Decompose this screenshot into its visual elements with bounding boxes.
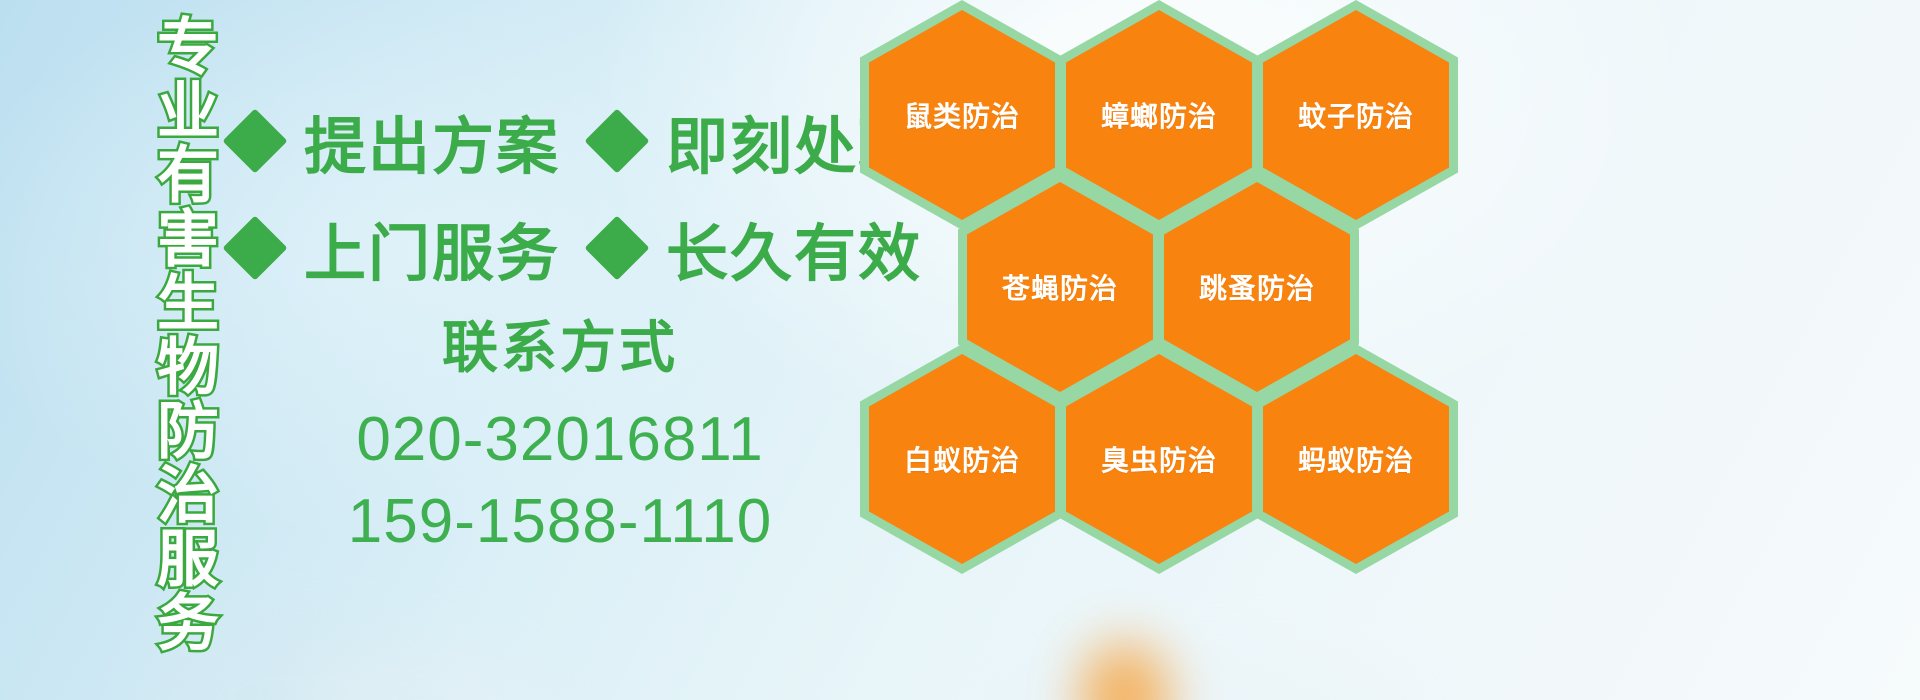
diamond-icon [584, 215, 649, 280]
service-label: 蚂蚁防治 [1298, 439, 1414, 479]
service-label: 臭虫防治 [1101, 439, 1217, 479]
decorative-blob [1080, 642, 1170, 700]
mobile-number[interactable]: 159-1588-1110 [300, 481, 820, 563]
contact-title: 联系方式 [300, 318, 820, 381]
service-label: 跳蚤防治 [1199, 267, 1315, 307]
service-label: 苍蝇防治 [1002, 267, 1118, 307]
slogan-row-2: 上门服务 长久有效 [232, 203, 922, 293]
vertical-headline: 专业有害生物防治服务 [110, 14, 214, 654]
contact-block: 联系方式 020-32016811 159-1588-1110 [300, 318, 820, 562]
service-label: 蚊子防治 [1298, 95, 1414, 135]
service-label: 蟑螂防治 [1101, 95, 1217, 135]
decorative-blob [1000, 650, 1420, 700]
diamond-icon [584, 108, 649, 173]
service-label: 白蚁防治 [904, 439, 1020, 479]
landline-number[interactable]: 020-32016811 [300, 399, 820, 481]
pest-control-banner: 专业有害生物防治服务 提出方案 即刻处理 上门服务 长久有效 联系方式 020-… [0, 0, 1920, 700]
service-honeycomb: 鼠类防治 蟑螂防治 蚊子防治 苍蝇防治 跳蚤防治 白蚁防治 臭虫防治 蚂蚁 [856, 0, 1476, 569]
slogan-item: 上门服务 [304, 203, 560, 293]
service-label: 鼠类防治 [904, 95, 1020, 135]
slogan-item: 提出方案 [304, 96, 560, 186]
diamond-icon [222, 108, 287, 173]
slogan-row-1: 提出方案 即刻处理 [232, 96, 922, 186]
diamond-icon [222, 215, 287, 280]
